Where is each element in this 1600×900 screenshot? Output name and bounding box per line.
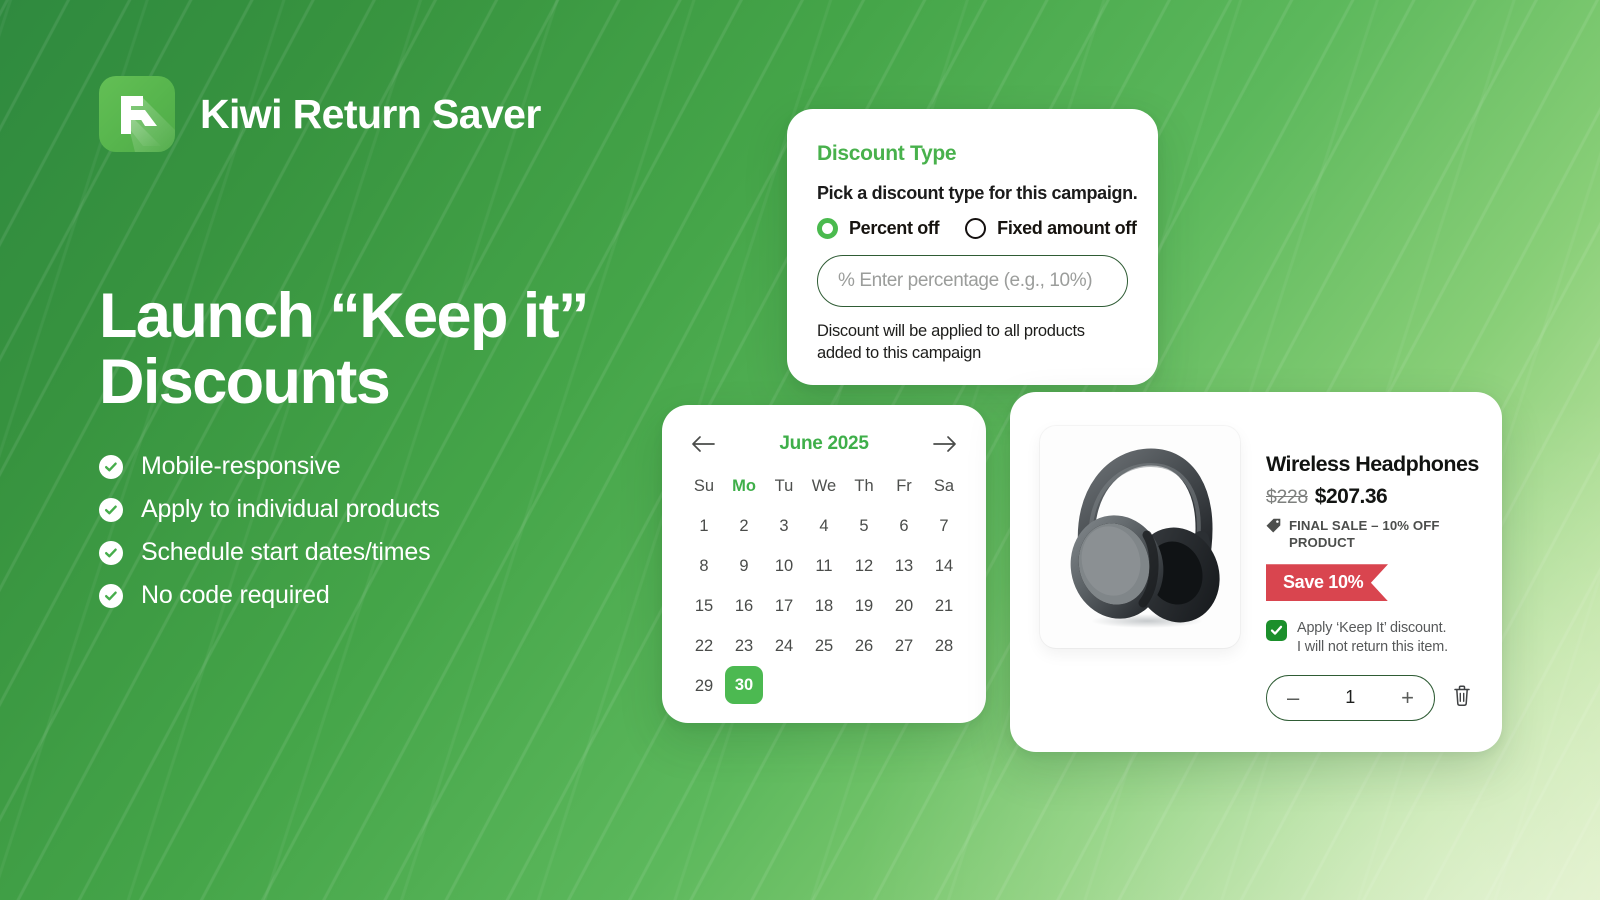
- list-item: No code required: [99, 581, 440, 610]
- product-card: Wireless Headphones $228 $207.36 FINAL S…: [1010, 392, 1502, 752]
- calendar-day[interactable]: 4: [806, 506, 842, 546]
- quantity-value: 1: [1345, 687, 1355, 708]
- discounted-price: $207.36: [1315, 485, 1387, 509]
- final-sale-row: FINAL SALE – 10% OFF PRODUCT: [1266, 518, 1472, 551]
- quantity-increment-button[interactable]: +: [1401, 687, 1414, 709]
- calendar-grid: SuMoTuWeThFrSa12345678910111213141516171…: [684, 466, 964, 706]
- calendar-day[interactable]: 16: [726, 586, 762, 626]
- save-badge: Save 10%: [1266, 564, 1388, 601]
- brand-name: Kiwi Return Saver: [200, 91, 541, 138]
- keep-it-line-1: Apply ‘Keep It’ discount.: [1297, 620, 1446, 636]
- product-details: Wireless Headphones $228 $207.36 FINAL S…: [1266, 426, 1472, 718]
- list-item: Apply to individual products: [99, 495, 440, 524]
- list-item: Schedule start dates/times: [99, 538, 440, 567]
- keep-it-discount-label: Apply ‘Keep It’ discount. I will not ret…: [1297, 619, 1448, 657]
- calendar-day[interactable]: 17: [766, 586, 802, 626]
- check-circle-icon: [99, 584, 123, 608]
- check-circle-icon: [99, 498, 123, 522]
- discount-helper-text: Discount will be applied to all products…: [817, 321, 1117, 365]
- original-price: $228: [1266, 486, 1308, 509]
- percentage-input-placeholder: % Enter percentage (e.g., 10%): [838, 270, 1092, 292]
- list-item-label: Apply to individual products: [141, 495, 440, 524]
- calendar-day[interactable]: 1: [686, 506, 722, 546]
- arrow-left-icon[interactable]: [688, 431, 718, 457]
- calendar-weekday-su: Su: [694, 466, 714, 506]
- discount-type-title: Discount Type: [817, 142, 1128, 166]
- calendar-day[interactable]: 5: [846, 506, 882, 546]
- wireless-headphones-photo: [1040, 426, 1240, 648]
- calendar-day[interactable]: 9: [726, 546, 762, 586]
- percentage-input[interactable]: % Enter percentage (e.g., 10%): [817, 255, 1128, 307]
- discount-type-radio-group: Percent off Fixed amount off: [817, 218, 1128, 239]
- kiwi-r-logo-icon: [99, 76, 175, 152]
- product-name: Wireless Headphones: [1266, 452, 1472, 477]
- calendar-day[interactable]: 21: [926, 586, 962, 626]
- discount-type-card: Discount Type Pick a discount type for t…: [787, 109, 1158, 385]
- calendar-day[interactable]: 29: [686, 666, 722, 706]
- calendar-day[interactable]: 8: [686, 546, 722, 586]
- calendar-day[interactable]: 25: [806, 626, 842, 666]
- calendar-day[interactable]: 12: [846, 546, 882, 586]
- calendar-header: June 2025: [684, 427, 964, 461]
- keep-it-discount-checkbox[interactable]: Apply ‘Keep It’ discount. I will not ret…: [1266, 619, 1472, 657]
- checkbox-checked-icon: [1266, 620, 1287, 641]
- list-item-label: Mobile-responsive: [141, 452, 340, 481]
- final-sale-text: FINAL SALE – 10% OFF PRODUCT: [1289, 518, 1472, 551]
- list-item: Mobile-responsive: [99, 452, 440, 481]
- calendar-weekday-sa: Sa: [934, 466, 954, 506]
- list-item-label: No code required: [141, 581, 330, 610]
- calendar-day[interactable]: 23: [726, 626, 762, 666]
- calendar-weekday-fr: Fr: [896, 466, 912, 506]
- calendar-day[interactable]: 10: [766, 546, 802, 586]
- calendar-day[interactable]: 20: [886, 586, 922, 626]
- radio-percent-off[interactable]: Percent off: [817, 218, 939, 239]
- radio-fixed-amount-off[interactable]: Fixed amount off: [965, 218, 1136, 239]
- radio-selected-icon: [817, 218, 838, 239]
- calendar-day[interactable]: 22: [686, 626, 722, 666]
- price-tag-icon: [1266, 518, 1281, 551]
- calendar-day[interactable]: 6: [886, 506, 922, 546]
- calendar-day[interactable]: 13: [886, 546, 922, 586]
- calendar-day[interactable]: 24: [766, 626, 802, 666]
- calendar-weekday-we: We: [812, 466, 836, 506]
- radio-unselected-icon: [965, 218, 986, 239]
- radio-fixed-amount-off-label: Fixed amount off: [997, 218, 1136, 239]
- arrow-right-icon[interactable]: [930, 431, 960, 457]
- check-circle-icon: [99, 541, 123, 565]
- calendar-day-selected[interactable]: 30: [725, 666, 763, 704]
- check-circle-icon: [99, 455, 123, 479]
- calendar-day[interactable]: 18: [806, 586, 842, 626]
- keep-it-line-2: I will not return this item.: [1297, 639, 1448, 655]
- quantity-decrement-button[interactable]: –: [1287, 687, 1299, 709]
- trash-icon[interactable]: [1452, 684, 1472, 712]
- list-item-label: Schedule start dates/times: [141, 538, 430, 567]
- calendar-day[interactable]: 7: [926, 506, 962, 546]
- price-row: $228 $207.36: [1266, 485, 1472, 509]
- radio-percent-off-label: Percent off: [849, 218, 939, 239]
- calendar-day[interactable]: 2: [726, 506, 762, 546]
- quantity-stepper[interactable]: – 1 +: [1266, 675, 1435, 721]
- date-picker-card: June 2025 SuMoTuWeThFrSa1234567891011121…: [662, 405, 986, 723]
- calendar-day[interactable]: 15: [686, 586, 722, 626]
- quantity-row: – 1 +: [1266, 675, 1472, 721]
- calendar-day[interactable]: 11: [806, 546, 842, 586]
- calendar-weekday-tu: Tu: [775, 466, 794, 506]
- brand-lockup: Kiwi Return Saver: [99, 76, 541, 152]
- calendar-day[interactable]: 28: [926, 626, 962, 666]
- page-title: Launch “Keep it” Discounts: [99, 283, 719, 415]
- discount-type-subtitle: Pick a discount type for this campaign.: [817, 183, 1128, 204]
- calendar-day[interactable]: 3: [766, 506, 802, 546]
- calendar-weekday-mo: Mo: [732, 466, 756, 506]
- calendar-day[interactable]: 26: [846, 626, 882, 666]
- calendar-day[interactable]: 19: [846, 586, 882, 626]
- calendar-day[interactable]: 27: [886, 626, 922, 666]
- calendar-day[interactable]: 14: [926, 546, 962, 586]
- calendar-weekday-th: Th: [854, 466, 873, 506]
- calendar-month-label: June 2025: [779, 433, 868, 455]
- promo-banner: Kiwi Return Saver Launch “Keep it” Disco…: [0, 0, 1600, 900]
- feature-list: Mobile-responsive Apply to individual pr…: [99, 452, 440, 610]
